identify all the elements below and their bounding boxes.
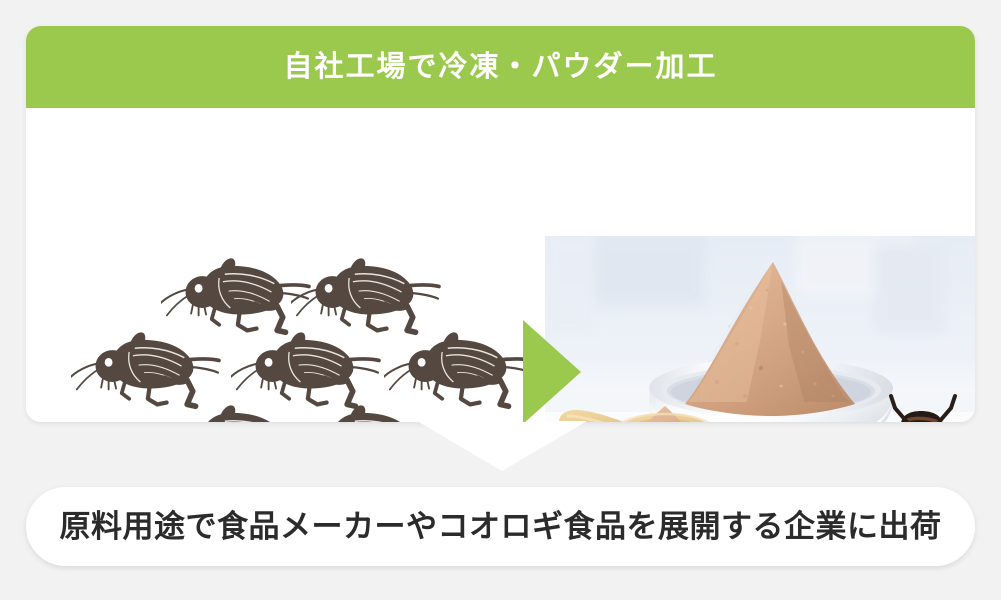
summary-banner: 原料用途で食品メーカーやコオロギ食品を展開する企業に出荷 [26, 487, 975, 566]
cricket-powder-photo [545, 236, 975, 422]
speech-bubble-tail [417, 421, 583, 471]
cricket-silhouette-cluster [66, 244, 516, 422]
green-right-arrow-icon [523, 320, 581, 422]
summary-banner-text: 原料用途で食品メーカーやコオロギ食品を展開する企業に出荷 [60, 511, 942, 542]
card-body [26, 108, 975, 422]
infographic-root: 自社工場で冷凍・パウダー加工 [0, 0, 1001, 600]
cricket-icon [291, 397, 441, 422]
page-title: 自社工場で冷凍・パウダー加工 [283, 53, 717, 82]
card-header-bar: 自社工場で冷凍・パウダー加工 [26, 26, 975, 108]
process-card: 自社工場で冷凍・パウダー加工 [26, 26, 975, 422]
cricket-icon [161, 397, 311, 422]
